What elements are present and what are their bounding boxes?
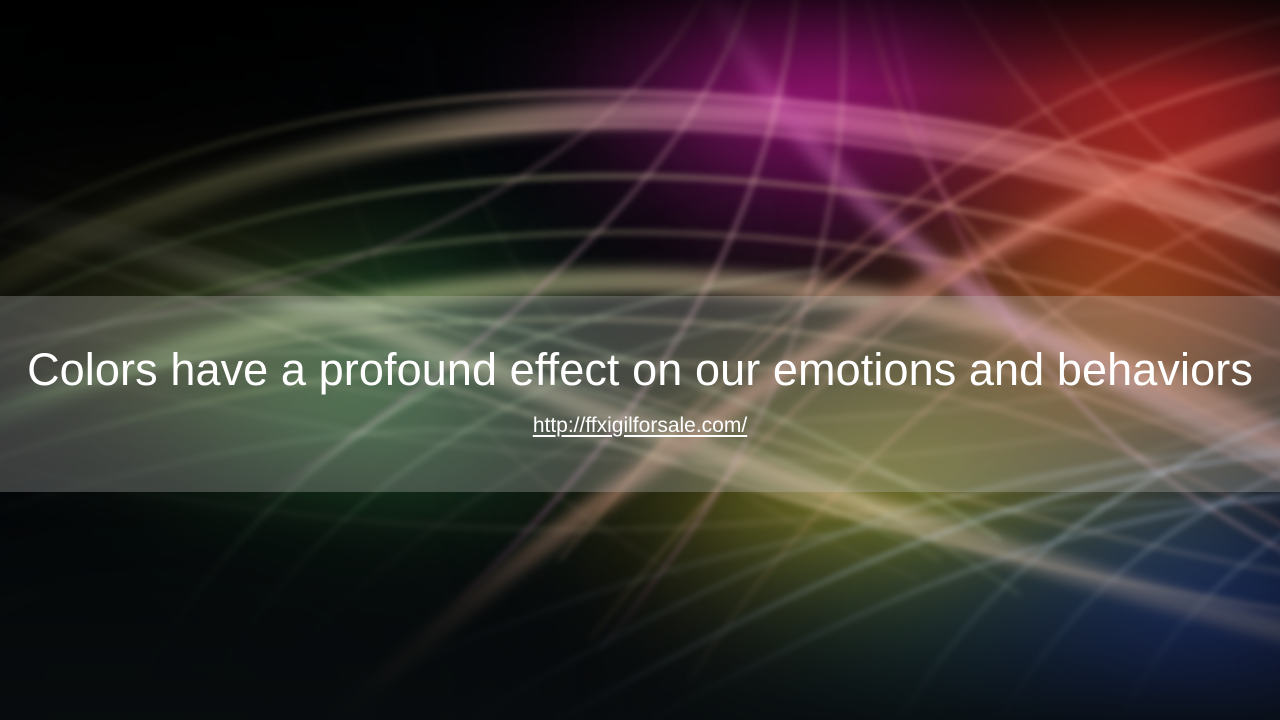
banner-title: Colors have a profound effect on our emo… (27, 344, 1253, 396)
caption-overlay-band: Colors have a profound effect on our emo… (0, 296, 1280, 492)
vignette-bottom (0, 510, 1280, 720)
featured-image-banner: Colors have a profound effect on our emo… (0, 0, 1280, 720)
source-url-link[interactable]: http://ffxigilforsale.com/ (533, 414, 747, 438)
